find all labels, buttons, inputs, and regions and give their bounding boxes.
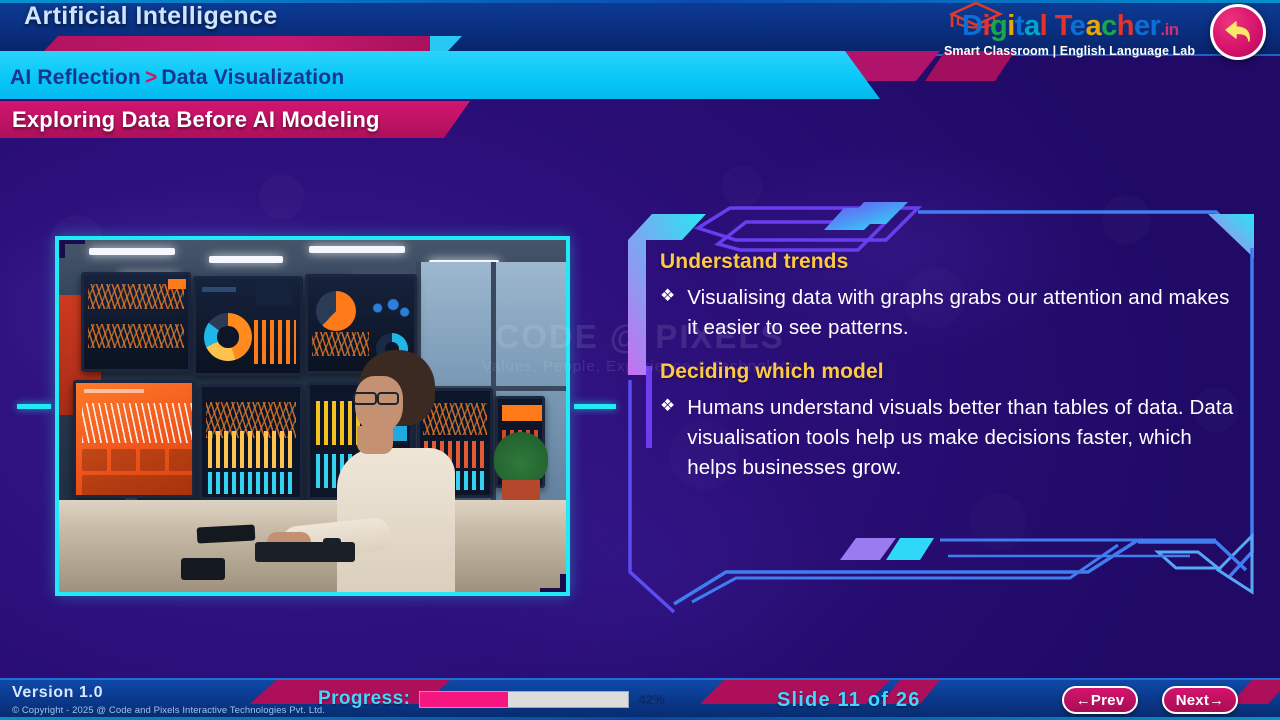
bullet-item: ❖ Humans understand visuals better than … — [660, 393, 1240, 484]
progress-bar[interactable] — [419, 691, 629, 708]
progress-indicator: Progress: 42% — [318, 688, 665, 710]
frame-bracket-top-left-2 — [55, 236, 85, 244]
content-section-1: Understand trends ❖ Visualising data wit… — [660, 250, 1240, 344]
content-sections: Understand trends ❖ Visualising data wit… — [660, 250, 1240, 500]
diamond-bullet-icon: ❖ — [660, 393, 675, 419]
illustration-image — [55, 236, 570, 596]
section-heading: Deciding which model — [660, 360, 1240, 384]
page-title: Exploring Data Before AI Modeling — [12, 107, 380, 133]
bullet-text: Humans understand visuals better than ta… — [687, 393, 1240, 484]
footer-bar: Version 1.0 © Copyright - 2025 @ Code an… — [0, 678, 1280, 720]
bullet-item: ❖ Visualising data with graphs grabs our… — [660, 283, 1240, 344]
bullet-text: Visualising data with graphs grabs our a… — [687, 283, 1240, 344]
copyright-text: © Copyright - 2025 @ Code and Pixels Int… — [12, 705, 325, 716]
brand-logo[interactable]: Digital Teacher.in Smart Classroom | Eng… — [936, 2, 1196, 82]
content-section-2: Deciding which model ❖ Humans understand… — [660, 360, 1240, 484]
breadcrumb-separator-icon: > — [141, 66, 161, 89]
progress-bar-fill — [420, 692, 507, 707]
slide-counter: Slide 11 of 26 — [777, 689, 921, 712]
prev-button[interactable]: ←Prev — [1062, 686, 1138, 714]
breadcrumb-item-current: Data Visualization — [161, 66, 344, 89]
progress-percent: 42% — [638, 692, 665, 707]
title-ribbon-decoration — [44, 36, 444, 51]
breadcrumb-item-parent[interactable]: AI Reflection — [10, 66, 141, 89]
next-button[interactable]: Next→ — [1162, 686, 1238, 714]
illustration-panel — [55, 236, 570, 596]
section-heading: Understand trends — [660, 250, 1240, 274]
progress-label: Progress: — [318, 688, 410, 710]
back-arrow-glyph — [1223, 19, 1253, 45]
app-title: Artificial Intelligence — [24, 2, 278, 31]
breadcrumb: AI Reflection>Data Visualization — [10, 66, 344, 90]
presentation-slide: Artificial Intelligence AI Reflection>Da… — [0, 0, 1280, 720]
logo-tagline: Smart Classroom | English Language Lab — [944, 44, 1194, 58]
back-arrow-icon[interactable] — [1210, 4, 1266, 60]
frame-bracket-bottom-right — [560, 574, 570, 596]
diamond-bullet-icon: ❖ — [660, 283, 675, 309]
accent-tick-right — [574, 404, 616, 409]
accent-tick-left — [17, 404, 51, 409]
frame-bracket-bottom-right-2 — [540, 588, 570, 596]
version-label: Version 1.0 — [12, 684, 103, 702]
logo-wordmark: Digital Teacher.in — [962, 10, 1179, 43]
content-panel: Understand trends ❖ Visualising data wit… — [618, 200, 1263, 620]
